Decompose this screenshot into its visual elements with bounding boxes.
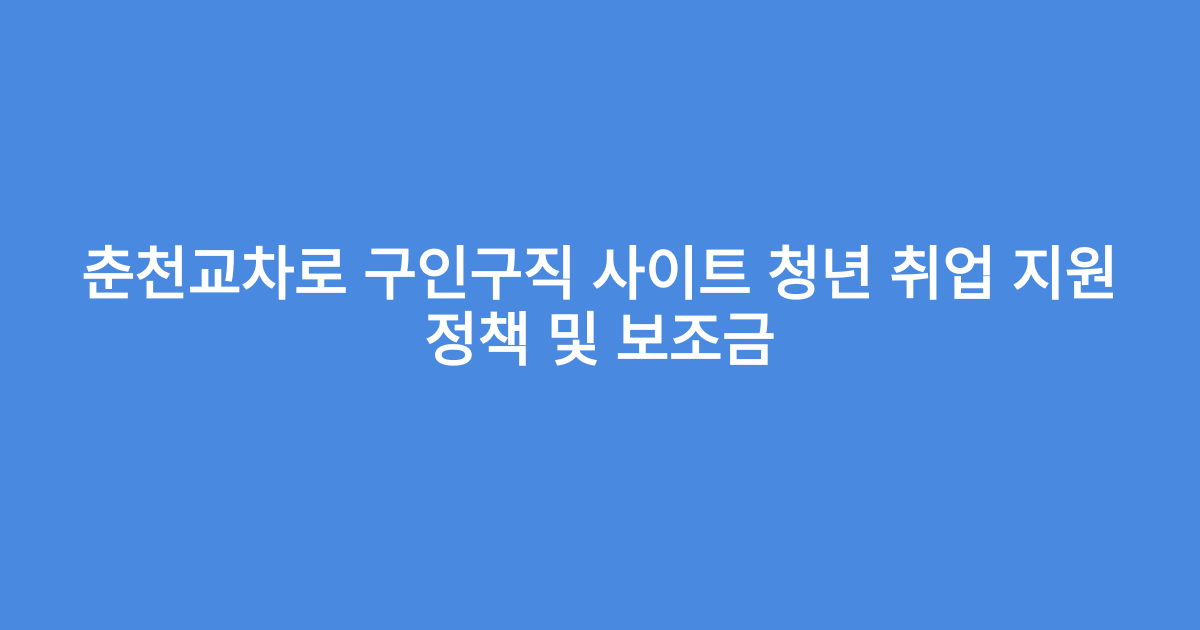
og-card: 춘천교차로 구인구직 사이트 청년 취업 지원 정책 및 보조금	[0, 0, 1200, 630]
page-title: 춘천교차로 구인구직 사이트 청년 취업 지원 정책 및 보조금	[80, 242, 1120, 374]
headline-block: 춘천교차로 구인구직 사이트 청년 취업 지원 정책 및 보조금	[80, 242, 1120, 374]
